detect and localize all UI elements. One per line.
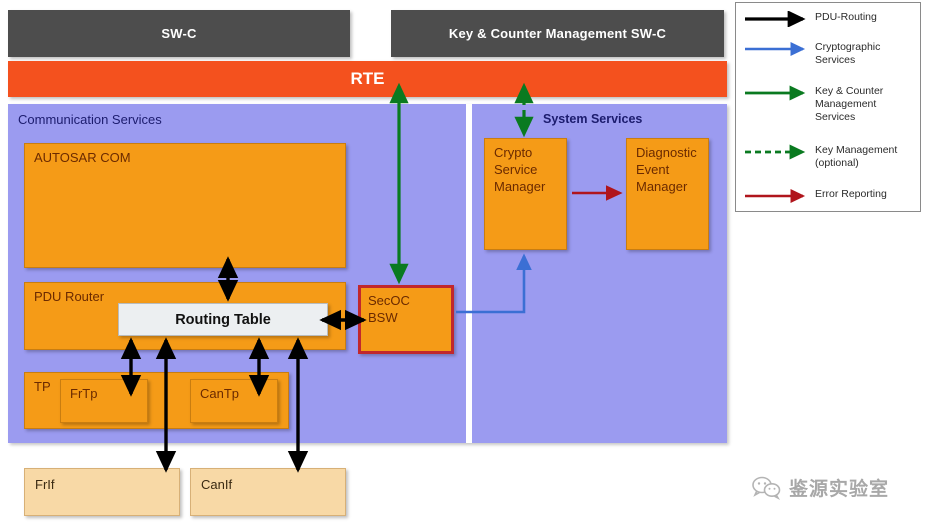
legend-item-error-reporting: Error Reporting <box>736 188 922 204</box>
diagnostic-event-manager-box: Diagnostic Event Manager <box>626 138 709 250</box>
tp-label: TP <box>34 378 51 395</box>
routing-table-box: Routing Table <box>118 303 328 336</box>
legend-label-cryptographic-services: Cryptographic Services <box>815 41 880 67</box>
rte-label: RTE <box>351 69 385 89</box>
diagnostic-event-manager-label: Diagnostic Event Manager <box>636 144 697 195</box>
legend-label-pdu-routing: PDU-Routing <box>815 11 877 24</box>
swc-label: SW-C <box>161 26 196 41</box>
diagram-canvas: SW-C Key & Counter Management SW-C RTE C… <box>0 0 927 531</box>
secoc-bsw-label: SecOC BSW <box>368 292 410 326</box>
watermark-text: 鉴源实验室 <box>789 474 889 501</box>
canif-box: CanIf <box>190 468 346 516</box>
legend-label-error-reporting: Error Reporting <box>815 188 887 201</box>
legend-panel: PDU-Routing Cryptographic Services <box>735 2 921 212</box>
key-counter-management-swc-box: Key & Counter Management SW-C <box>391 10 724 57</box>
crypto-service-manager-box: Crypto Service Manager <box>484 138 567 250</box>
wechat-icon <box>752 476 782 500</box>
legend-swatch-key-management-optional <box>741 144 815 160</box>
legend-label-key-management-optional: Key Management (optional) <box>815 144 897 170</box>
panel-divider <box>466 104 472 443</box>
secoc-bsw-box: SecOC BSW <box>358 285 454 354</box>
legend-swatch-pdu-routing <box>741 11 815 27</box>
routing-table-label: Routing Table <box>175 312 271 328</box>
frtp-box: FrTp <box>60 379 148 423</box>
legend-swatch-error-reporting <box>741 188 815 204</box>
legend-swatch-key-counter-management-services <box>741 85 815 101</box>
swc-box: SW-C <box>8 10 350 57</box>
legend-label-key-counter-management-services: Key & Counter Management Services <box>815 85 883 124</box>
pdu-router-label: PDU Router <box>34 288 104 305</box>
rte-bar: RTE <box>8 61 727 97</box>
autosar-com-box: AUTOSAR COM <box>24 143 346 268</box>
legend-item-key-management-optional: Key Management (optional) <box>736 144 922 170</box>
legend-item-pdu-routing: PDU-Routing <box>736 11 922 27</box>
legend-item-key-counter-management-services: Key & Counter Management Services <box>736 85 922 124</box>
system-services-title: System Services <box>543 112 642 126</box>
cantp-label: CanTp <box>200 385 239 402</box>
crypto-service-manager-label: Crypto Service Manager <box>494 144 545 195</box>
legend-swatch-cryptographic-services <box>741 41 815 57</box>
frif-box: FrIf <box>24 468 180 516</box>
watermark: 鉴源实验室 <box>752 474 889 501</box>
canif-label: CanIf <box>201 477 232 492</box>
cantp-box: CanTp <box>190 379 278 423</box>
communication-services-title: Communication Services <box>18 112 162 127</box>
frtp-label: FrTp <box>70 385 97 402</box>
autosar-com-label: AUTOSAR COM <box>34 149 131 166</box>
key-counter-management-swc-label: Key & Counter Management SW-C <box>449 26 666 41</box>
frif-label: FrIf <box>35 477 55 492</box>
legend-item-cryptographic-services: Cryptographic Services <box>736 41 922 67</box>
